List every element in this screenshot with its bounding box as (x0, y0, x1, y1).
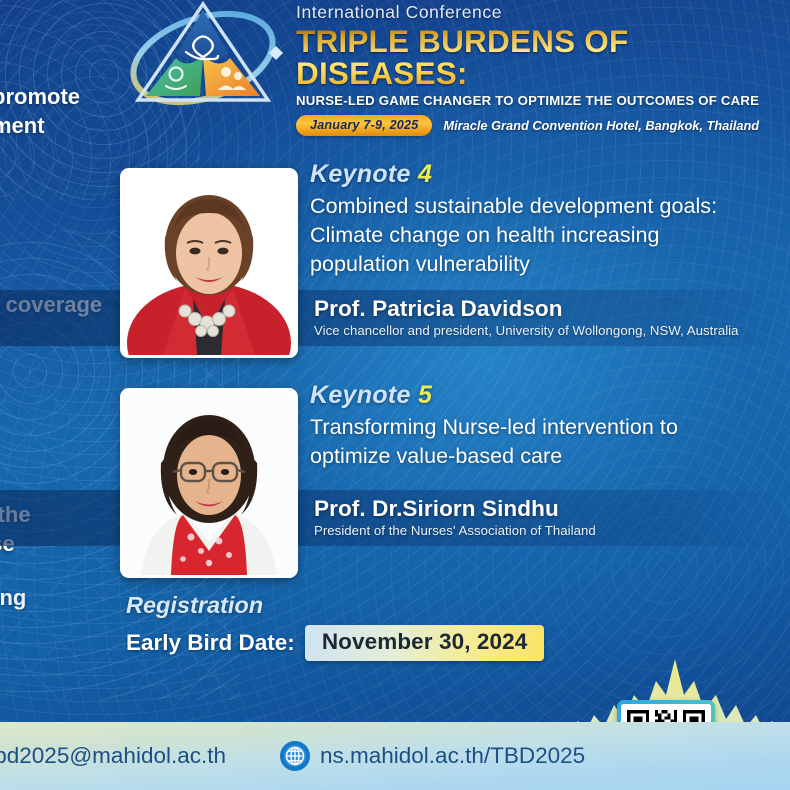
venue-text: Miracle Grand Convention Hotel, Bangkok,… (443, 118, 759, 133)
keynote-5-title-line2: optimize value-based care (310, 442, 780, 471)
keynote-block-4: Keynote 4 Combined sustainable developme… (310, 160, 780, 280)
left-fragment-4: ong (0, 585, 26, 611)
keynote-5-label: Keynote 5 (310, 381, 780, 410)
keynote-5-title-line1: Transforming Nurse-led intervention to (310, 413, 780, 442)
registration-section: Registration Early Bird Date: November 3… (126, 592, 544, 661)
page-subtitle: NURSE-LED GAME CHANGER TO OPTIMIZE THE O… (296, 93, 790, 108)
website-url[interactable]: ns.mahidol.ac.th/TBD2025 (320, 743, 585, 769)
keynote-4-title-line2: Climate change on health increasing (310, 221, 780, 250)
early-bird-date-value: November 30, 2024 (305, 625, 545, 661)
header-text-block: International Conference TRIPLE BURDENS … (296, 0, 790, 136)
early-bird-label: Early Bird Date: (126, 630, 295, 656)
speaker-info-5: Prof. Dr.Siriorn Sindhu President of the… (314, 496, 596, 538)
keynote-5-number: 5 (418, 381, 432, 409)
left-fragment-1: promote ment (0, 82, 80, 140)
keynote-5-title: Transforming Nurse-led intervention to o… (310, 413, 780, 471)
triangle-logo-icon (108, 0, 298, 118)
keynote-4-title-line1: Combined sustainable development goals: (310, 192, 780, 221)
speaker-info-4: Prof. Patricia Davidson Vice chancellor … (314, 296, 739, 338)
globe-icon (279, 740, 311, 772)
keynote-4-label-text: Keynote (310, 160, 411, 188)
left-fragment-1-line1: promote (0, 82, 80, 111)
eyebrow-text: International Conference (296, 2, 790, 23)
left-fragment-1-line2: ment (0, 111, 80, 140)
poster-header: International Conference TRIPLE BURDENS … (0, 0, 790, 118)
speaker-5-role: President of the Nurses' Association of … (314, 523, 596, 538)
date-badge: January 7-9, 2025 (296, 115, 432, 136)
registration-row: Early Bird Date: November 30, 2024 (126, 625, 544, 661)
keynote-4-number: 4 (418, 160, 432, 188)
speaker-4-name: Prof. Patricia Davidson (314, 296, 739, 322)
speaker-photo-patricia-davidson (120, 168, 298, 358)
keynote-4-title: Combined sustainable development goals: … (310, 192, 780, 280)
speaker-photo-siriorn-sindhu (120, 388, 298, 578)
keynote-block-5: Keynote 5 Transforming Nurse-led interve… (310, 381, 780, 471)
poster-footer: tbd2025@mahidol.ac.th ns.mahidol.ac.th/T… (0, 722, 790, 790)
header-meta-row: January 7-9, 2025 Miracle Grand Conventi… (296, 115, 790, 136)
conference-poster: International Conference TRIPLE BURDENS … (0, 0, 790, 790)
keynote-4-label: Keynote 4 (310, 160, 780, 189)
contact-email[interactable]: tbd2025@mahidol.ac.th (0, 743, 226, 769)
speaker-5-name: Prof. Dr.Siriorn Sindhu (314, 496, 596, 522)
speaker-4-role: Vice chancellor and president, Universit… (314, 323, 739, 338)
registration-heading: Registration (126, 592, 544, 619)
page-title: TRIPLE BURDENS OF DISEASES: (296, 25, 790, 90)
keynote-5-label-text: Keynote (310, 381, 411, 409)
keynote-4-title-line3: population vulnerability (310, 250, 780, 279)
